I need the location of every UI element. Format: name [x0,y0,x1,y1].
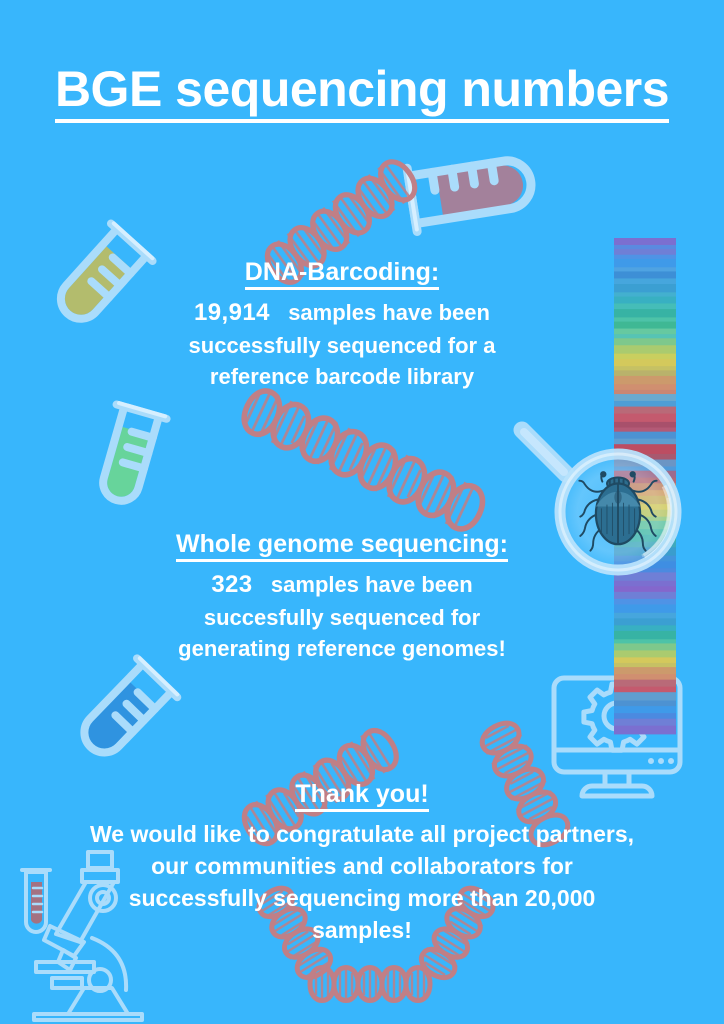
section-heading-text: Whole genome sequencing: [176,530,508,562]
section-thank-you: Thank you! We would like to congratulate… [62,780,662,947]
section-body-line3: generating reference genomes! [112,633,572,664]
section-heading-dna-barcoding: DNA-Barcoding: [122,258,562,287]
stat-line: 323 samples have been [112,568,572,602]
test-tube-blue-sample [72,648,184,768]
section-body-thank-you: We would like to congratulate all projec… [62,818,662,947]
section-dna-barcoding: DNA-Barcoding: 19,914 samples have been … [122,258,562,392]
magnifier-handle [522,430,566,474]
stat-line: 19,914 samples have been [122,296,562,330]
section-whole-genome-sequencing: Whole genome sequencing: 323 samples hav… [112,530,572,664]
test-tube-green-sample [78,392,182,512]
section-body-line2: successfully sequenced for a [122,330,562,361]
stat-number-genome: 323 [211,571,252,598]
stat-line-rest: samples have been [271,572,473,597]
page-title-text: BGE sequencing numbers [55,61,669,123]
section-heading-whole-genome: Whole genome sequencing: [112,530,572,559]
dna-double-helix-icon [232,390,482,525]
section-body-line3: reference barcode library [122,361,562,392]
section-body-whole-genome: 323 samples have been succesfully sequen… [112,568,572,665]
section-body-line2: succesfully sequenced for [112,602,572,633]
thanks-line-2: our communities and collaborators for [62,850,662,882]
stat-line-rest: samples have been [288,300,490,325]
section-body-dna-barcoding: 19,914 samples have been successfully se… [122,296,562,393]
section-heading-text: Thank you! [295,780,428,812]
infographic-poster: BGE sequencing numbers DNA-Barcoding: 19… [0,0,724,1024]
thanks-line-4: samples! [62,914,662,946]
thanks-line-1: We would like to congratulate all projec… [62,818,662,850]
stat-number-barcoding: 19,914 [194,299,270,326]
page-title: BGE sequencing numbers [0,60,724,118]
section-heading-thank-you: Thank you! [62,780,662,809]
thanks-line-3: successfully sequencing more than 20,000 [62,882,662,914]
section-heading-text: DNA-Barcoding: [245,258,439,290]
